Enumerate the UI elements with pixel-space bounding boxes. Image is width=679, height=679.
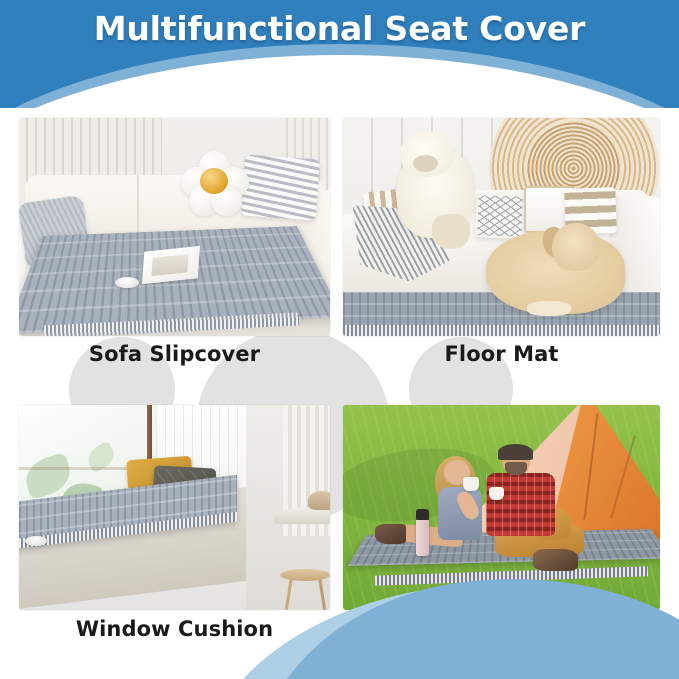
- panel-caption: Floor Mat: [343, 342, 660, 366]
- tan-dog-head: [552, 223, 600, 271]
- woman-boot: [375, 524, 407, 545]
- page-title: Multifunctional Seat Cover: [0, 9, 679, 48]
- panel-sofa-slipcover[interactable]: Sofa Slipcover: [19, 118, 330, 373]
- scene-window-cushion: [19, 405, 330, 610]
- panel-caption: Sofa Slipcover: [19, 342, 330, 366]
- vase: [308, 491, 330, 509]
- book: [142, 246, 200, 284]
- photo-floor-mat: [343, 118, 660, 336]
- panel-floor-mat[interactable]: Floor Mat: [343, 118, 660, 373]
- white-dog-leg: [432, 214, 470, 249]
- man-boot: [533, 549, 577, 572]
- scene-sofa-slipcover: [19, 118, 330, 336]
- thermos-bottle: [416, 518, 429, 556]
- woman-cup: [463, 477, 479, 491]
- floor-mat-fringe: [343, 325, 660, 336]
- panel-caption: Outdoor Mat: [343, 617, 660, 641]
- man-hair: [498, 444, 533, 460]
- scene-floor-mat: [343, 118, 660, 336]
- man-beard: [505, 462, 527, 474]
- panel-outdoor-mat[interactable]: Outdoor Mat: [343, 405, 660, 655]
- scene-outdoor-mat: [343, 405, 660, 610]
- man-plaid-shirt: [486, 473, 556, 537]
- flower-pillow: [181, 151, 249, 213]
- photo-window-cushion: [19, 405, 330, 610]
- tan-dog-paw: [527, 301, 571, 316]
- photo-outdoor-mat: [343, 405, 660, 610]
- infographic-page: Multifunctional Seat Cover: [0, 0, 679, 679]
- striped-pillow: [241, 155, 320, 221]
- panel-window-cushion[interactable]: Window Cushion: [19, 405, 330, 655]
- photo-sofa-slipcover: [19, 118, 330, 336]
- side-table: [274, 508, 330, 524]
- man-cup: [489, 487, 504, 500]
- panel-caption: Window Cushion: [19, 617, 330, 641]
- patterned-pillow: [475, 193, 524, 238]
